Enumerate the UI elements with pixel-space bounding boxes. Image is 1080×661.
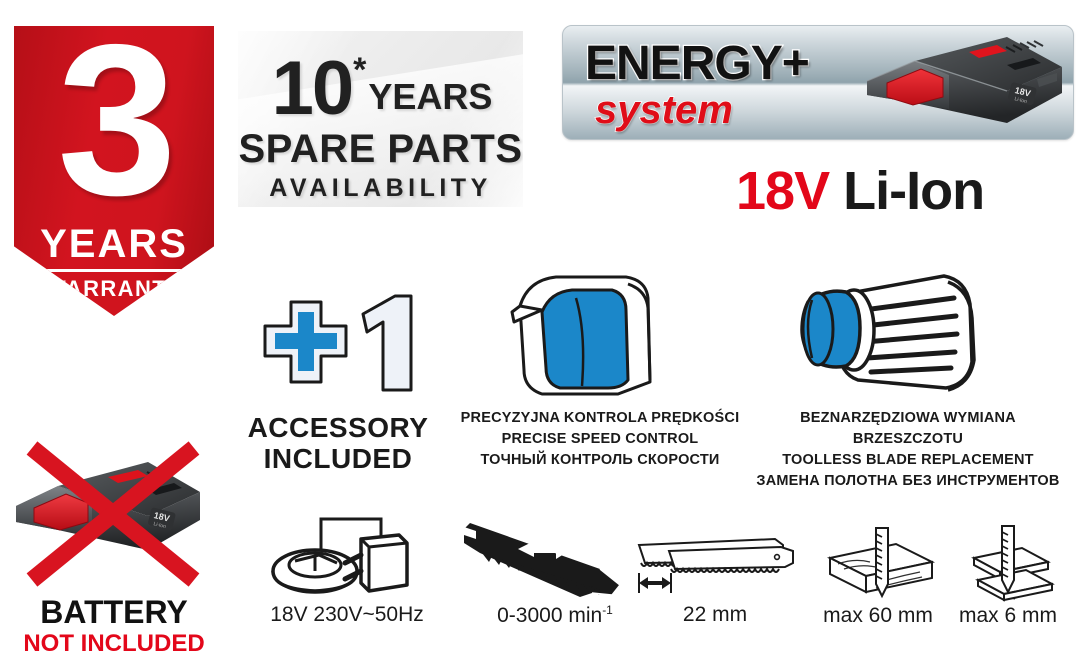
battery-crossed-out-icon: 18V Li-Ion <box>8 440 220 595</box>
accessory-line2: INCLUDED <box>243 443 433 474</box>
voltage-value: 18V <box>736 161 829 221</box>
feature-toolless-blade-replacement: BEZNARZĘDZIOWA WYMIANA BRZESZCZOTU TOOLL… <box>748 262 1068 492</box>
spec-label-wood: max 60 mm <box>812 604 944 628</box>
spec-label-charger: 18V 230V~50Hz <box>252 603 442 627</box>
trigger-switch-icon <box>450 262 750 402</box>
spec-label-stroke: 22 mm <box>620 603 810 627</box>
spec-cut-wood: max 60 mm <box>812 522 944 628</box>
warranty-years-label: YEARS <box>14 222 214 267</box>
battery-not-included-block: 18V Li-Ion BATTERY NOT INCLUDED <box>8 440 220 657</box>
spare-parts-number: 10 <box>272 46 353 131</box>
cut-metal-icon <box>944 522 1072 604</box>
energy-plus-system-banner: ENERGY+ system <box>562 25 1074 140</box>
energy-plus-title: ENERGY+ <box>585 36 809 91</box>
spec-charger: 18V 230V~50Hz <box>252 513 442 627</box>
caption-line-ru: ТОЧНЫЙ КОНТРОЛЬ СКОРОСТИ <box>450 450 750 471</box>
plus-one-icon <box>243 292 433 402</box>
feature-precise-speed-control: PRECYZYJNA KONTROLA PRĘDKOŚCI PRECISE SP… <box>450 262 750 471</box>
warranty-sublabel: WARRANTY <box>14 276 214 302</box>
caption-line-pl: PRECYZYJNA KONTROLA PRĘDKOŚCI <box>450 408 750 429</box>
spare-parts-years-label: YEARS <box>368 76 492 117</box>
caption-line-en: PRECISE SPEED CONTROL <box>450 429 750 450</box>
battery-pack-image: 18V Li-Ion <box>857 31 1069 135</box>
asterisk-marker: * <box>353 51 366 89</box>
spare-parts-line3: AVAILABILITY <box>238 174 523 203</box>
battery-notice-line1: BATTERY <box>8 595 220 630</box>
stroke-length-icon <box>625 523 805 603</box>
spec-stroke-length: 22 mm <box>620 523 810 627</box>
charger-plug-icon <box>257 513 437 603</box>
accessory-included-block: ACCESSORY INCLUDED <box>243 292 433 475</box>
accessory-line1: ACCESSORY <box>243 412 433 443</box>
spare-parts-line2: SPARE PARTS <box>238 127 523 172</box>
warranty-divider <box>44 269 184 272</box>
warranty-years-number: 3 <box>14 12 214 227</box>
spec-speed-value: 0-3000 min <box>497 604 602 627</box>
caption-line-pl: BEZNARZĘDZIOWA WYMIANA BRZESZCZOTU <box>748 408 1068 450</box>
spec-speed-exponent: -1 <box>602 603 613 617</box>
spec-cut-metal: max 6 mm <box>942 522 1074 628</box>
spare-parts-headline: 10*YEARS <box>238 45 523 132</box>
infographic-canvas: 3 YEARS WARRANTY 10*YEARS SPARE PARTS AV… <box>0 0 1080 661</box>
cut-wood-icon <box>814 522 942 604</box>
warranty-badge: 3 YEARS WARRANTY <box>14 26 214 316</box>
feature-caption-blade: BEZNARZĘDZIOWA WYMIANA BRZESZCZOTU TOOLL… <box>748 408 1068 492</box>
battery-notice-line2: NOT INCLUDED <box>8 630 220 658</box>
caption-line-ru: ЗАМЕНА ПОЛОТНА БЕЗ ИНСТРУМЕНТОВ <box>748 471 1068 492</box>
voltage-headline: 18V Li-Ion <box>736 160 984 222</box>
toolless-chuck-icon <box>748 262 1068 402</box>
caption-line-en: TOOLLESS BLADE REPLACEMENT <box>748 450 1068 471</box>
energy-system-subtitle: system <box>595 88 733 133</box>
battery-chemistry-label: Li-Ion <box>843 161 984 221</box>
spec-label-metal: max 6 mm <box>942 604 1074 628</box>
feature-caption-speed: PRECYZYJNA KONTROLA PRĘDKOŚCI PRECISE SP… <box>450 408 750 471</box>
spare-parts-availability-badge: 10*YEARS SPARE PARTS AVAILABILITY <box>238 31 523 207</box>
